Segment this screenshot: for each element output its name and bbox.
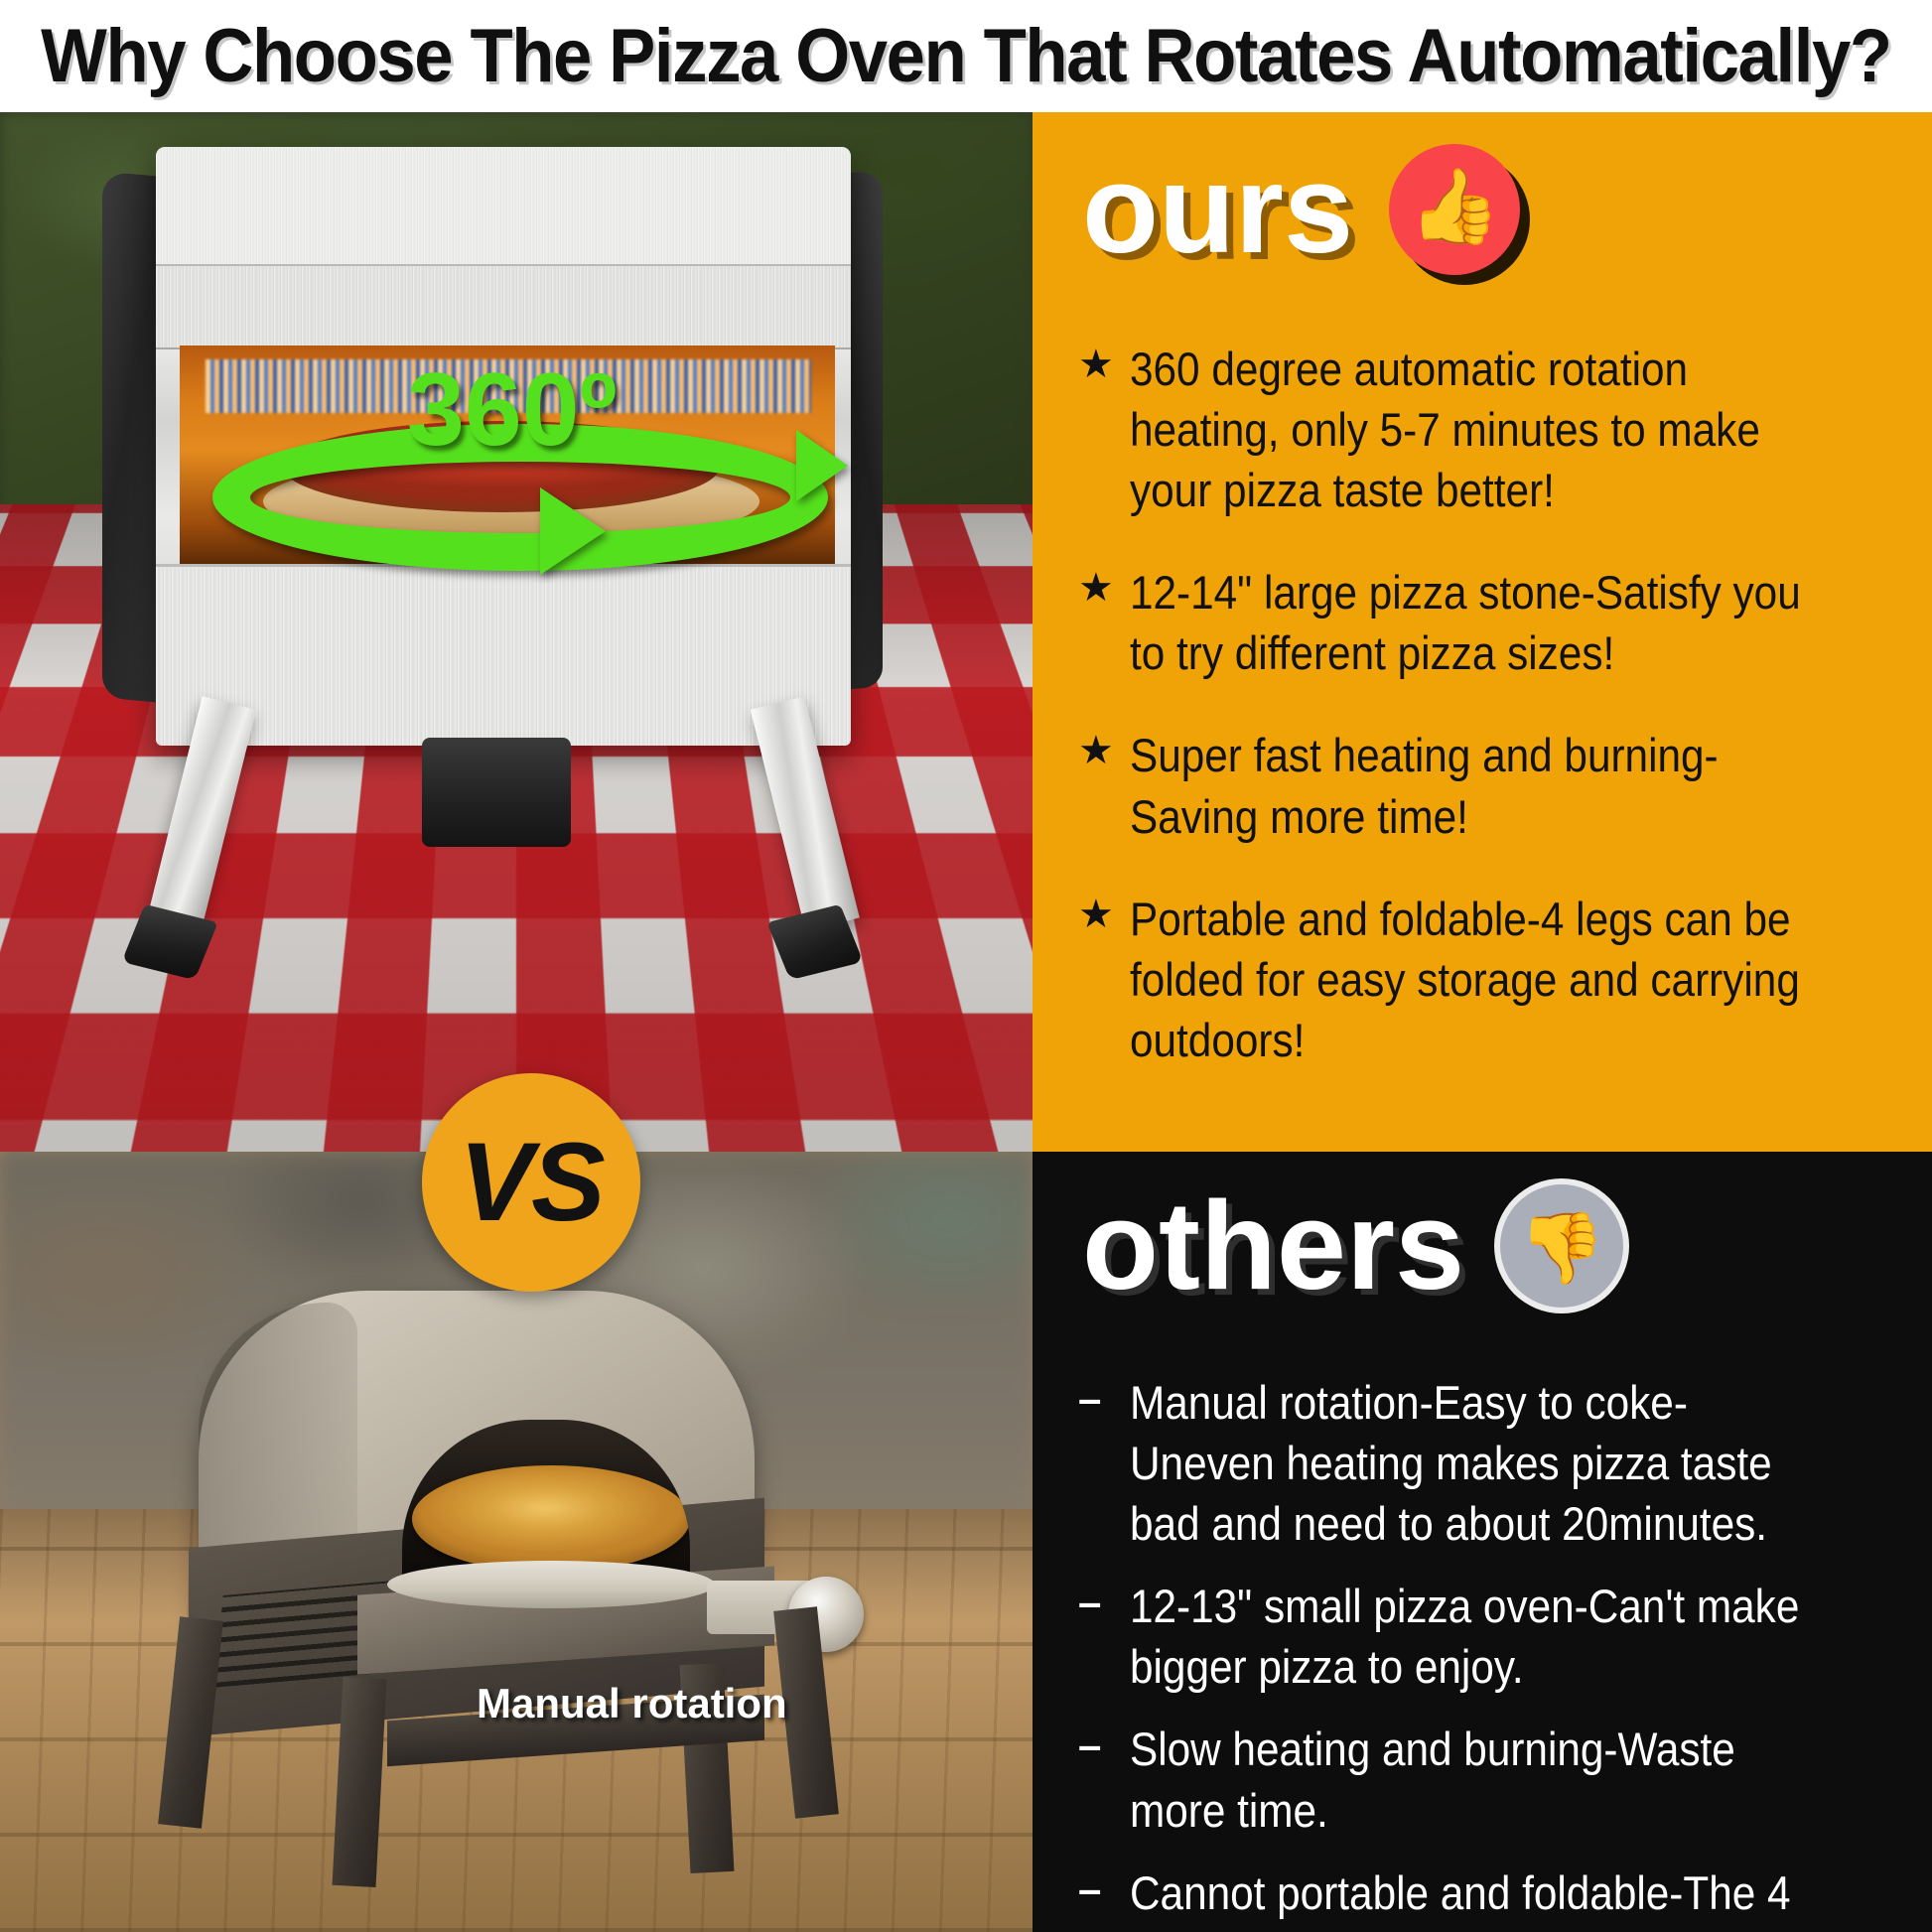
list-item-text: 360 degree automatic rotation heating, o…	[1130, 339, 1825, 520]
star-bullet-icon: ★	[1078, 889, 1130, 940]
list-item: ★ 12-14" large pizza stone-Satisfy you t…	[1078, 562, 1902, 683]
thumbs-up-glyph: 👍	[1409, 170, 1500, 243]
list-item: ★ Super fast heating and burning-Saving …	[1078, 725, 1902, 846]
star-bullet-icon: ★	[1078, 725, 1130, 776]
list-item-text: Super fast heating and burning-Saving mo…	[1130, 725, 1825, 846]
oven-base-panel	[156, 564, 851, 746]
list-item: – 12-13" small pizza oven-Can't make big…	[1078, 1576, 1902, 1697]
dash-bullet-icon: –	[1078, 1372, 1130, 1427]
thumbs-down-icon: 👎	[1500, 1184, 1623, 1308]
rotation-arrowhead-center-icon	[540, 487, 606, 575]
list-item-text: Cannot portable and foldable-The 4 legs …	[1130, 1863, 1825, 1932]
list-item-text: 12-13" small pizza oven-Can't make bigge…	[1130, 1576, 1825, 1697]
others-panel: others 👎 – Manual rotation-Easy to coke-…	[1033, 1152, 1932, 1932]
oven-roof	[156, 147, 851, 264]
rotation-overlay: 360º	[212, 372, 828, 571]
others-header: others 👎	[1082, 1183, 1623, 1309]
list-item: – Manual rotation-Easy to coke-Uneven he…	[1078, 1372, 1902, 1554]
ours-header: ours 👍	[1082, 144, 1520, 275]
list-item-text: Slow heating and burning-Waste more time…	[1130, 1719, 1825, 1840]
ours-heading: ours	[1082, 147, 1353, 272]
manual-rotation-caption: Manual rotation	[477, 1683, 787, 1725]
vs-label: VS	[459, 1127, 603, 1238]
oven-drawer	[422, 738, 571, 847]
list-item-text: 12-14" large pizza stone-Satisfy you to …	[1130, 562, 1825, 683]
oven-upper-band	[156, 264, 851, 349]
comparison-infographic: Why Choose The Pizza Oven That Rotates A…	[0, 0, 1932, 1932]
dash-bullet-icon: –	[1078, 1576, 1130, 1630]
ours-panel: ours 👍 ★ 360 degree automatic rotation h…	[1033, 112, 1932, 1152]
list-item: – Slow heating and burning-Waste more ti…	[1078, 1719, 1902, 1840]
ours-product-photo: 360º	[0, 112, 1033, 1152]
others-heading: others	[1082, 1183, 1464, 1309]
thumbs-down-glyph: 👎	[1518, 1213, 1604, 1283]
comparison-grid: 360º ours 👍 ★ 360 degree automatic rotat…	[0, 112, 1932, 1932]
pizza	[412, 1465, 690, 1573]
star-bullet-icon: ★	[1078, 562, 1130, 614]
list-item-text: Manual rotation-Easy to coke-Uneven heat…	[1130, 1372, 1825, 1554]
list-item: ★ 360 degree automatic rotation heating,…	[1078, 339, 1902, 520]
list-item: ★ Portable and foldable-4 legs can be fo…	[1078, 889, 1902, 1070]
vs-badge: VS	[422, 1073, 640, 1292]
star-bullet-icon: ★	[1078, 339, 1130, 390]
list-item-text: Portable and foldable-4 legs can be fold…	[1130, 889, 1825, 1070]
pizza-stone	[387, 1561, 715, 1608]
thumbs-up-icon: 👍	[1389, 144, 1520, 275]
others-drawback-list: – Manual rotation-Easy to coke-Uneven he…	[1078, 1372, 1902, 1932]
list-item: – Cannot portable and foldable-The 4 leg…	[1078, 1863, 1902, 1932]
ours-benefit-list: ★ 360 degree automatic rotation heating,…	[1078, 339, 1902, 1112]
rotation-arrowhead-right-icon	[796, 430, 848, 501]
rotation-degrees-label: 360º	[407, 358, 618, 462]
dash-bullet-icon: –	[1078, 1719, 1130, 1773]
dash-bullet-icon: –	[1078, 1863, 1130, 1917]
manual-pizza-oven: Manual rotation	[89, 1291, 884, 1886]
page-title: Why Choose The Pizza Oven That Rotates A…	[41, 19, 1891, 94]
title-bar: Why Choose The Pizza Oven That Rotates A…	[0, 0, 1932, 112]
